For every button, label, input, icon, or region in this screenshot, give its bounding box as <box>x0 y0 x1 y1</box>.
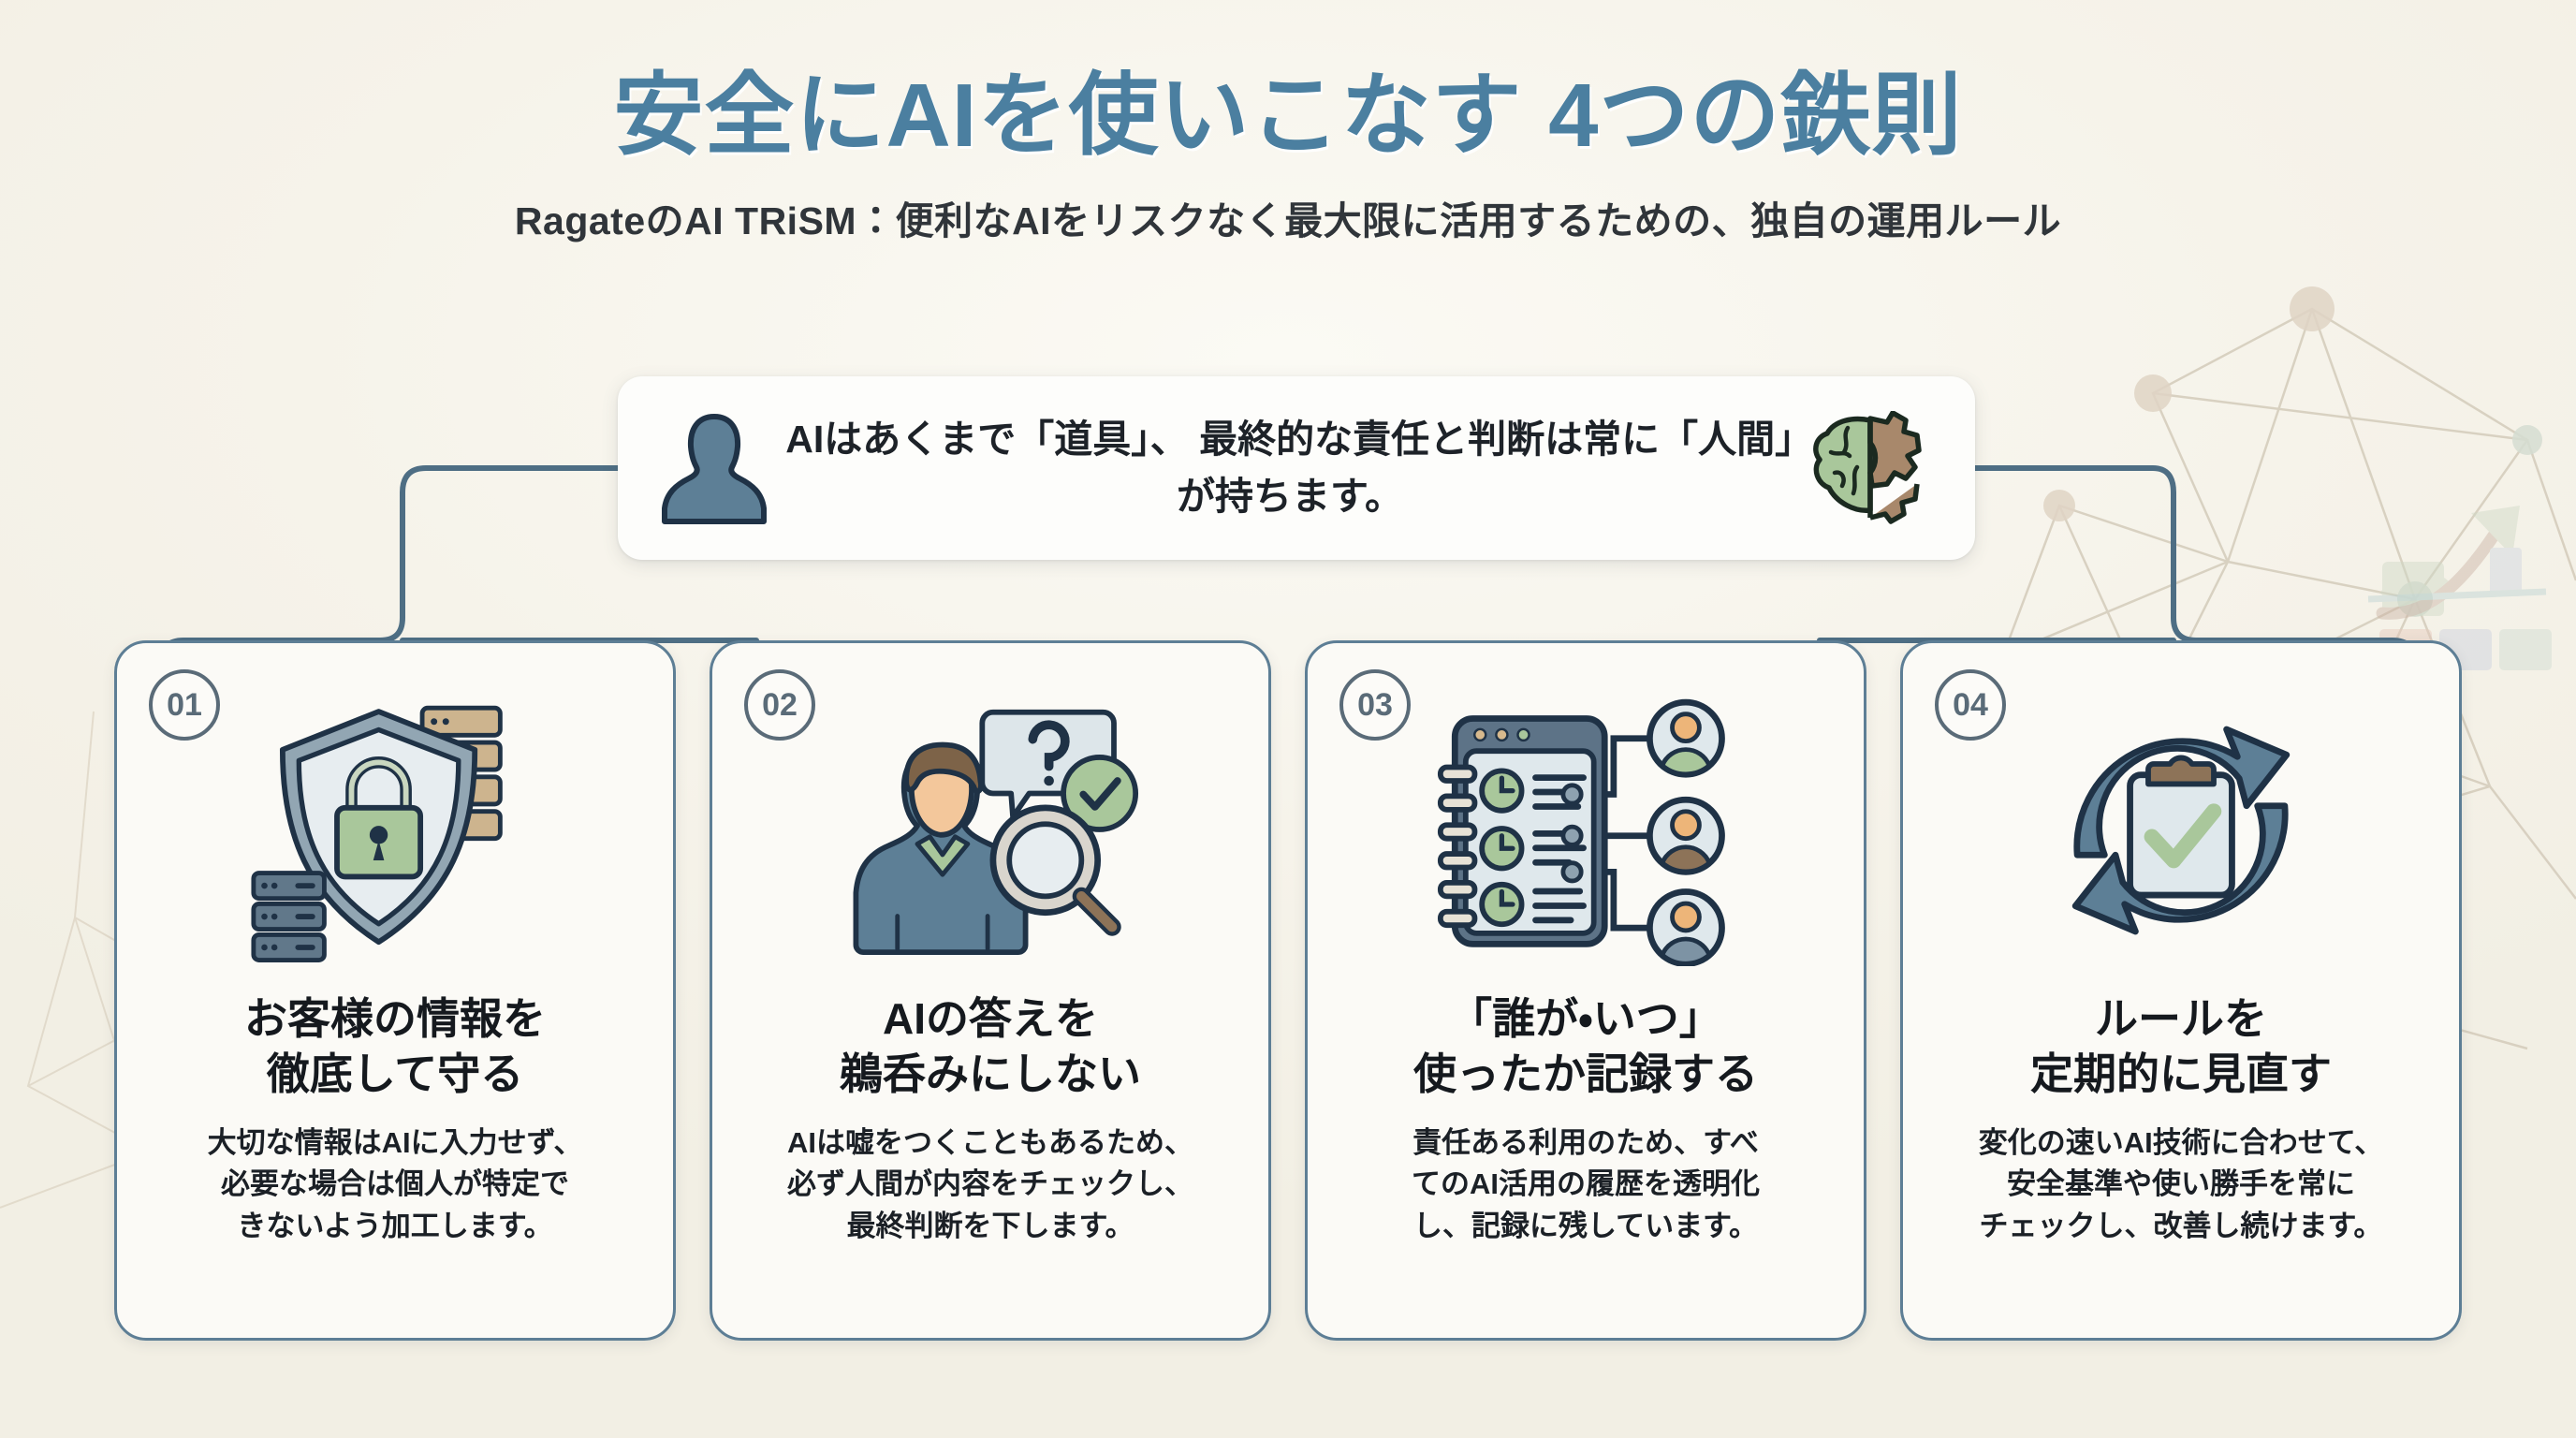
person-review-magnifier-icon <box>737 681 1244 980</box>
card-description: 大切な情報はAIに入力せず、 必要な場合は個人が特定で きないよう加工します。 <box>208 1123 583 1248</box>
rule-card-01[interactable]: 01 <box>114 640 676 1341</box>
review-cycle-clipboard-icon <box>1927 681 2435 980</box>
brain-gear-icon <box>1810 411 1934 525</box>
rule-card-04[interactable]: 04 ルールを 定期的に見直す 変化の速いAI技術に合わせて、 安全基準や使い勝… <box>1900 640 2462 1341</box>
rules-card-row: 01 <box>0 640 2576 1341</box>
card-description: 責任ある利用のため、すべ てのAI活用の履歴を透明化 し、記録に残しています。 <box>1412 1123 1760 1248</box>
page-header: 安全にAIを使いこなす 4つの鉄則 RagateのAI TRiSM：便利なAIを… <box>0 67 2576 245</box>
card-number-badge: 03 <box>1339 669 1411 741</box>
card-number-badge: 04 <box>1935 669 2006 741</box>
card-number-badge: 01 <box>149 669 220 741</box>
page-title: 安全にAIを使いこなす 4つの鉄則 <box>0 67 2576 165</box>
audit-log-users-icon <box>1332 681 1839 980</box>
shield-lock-servers-icon <box>141 681 649 980</box>
page-subtitle: RagateのAI TRiSM：便利なAIをリスクなく最大限に活用するための、独… <box>0 189 2576 245</box>
card-description: AIは嘘をつくこともあるため、 必ず人間が内容をチェックし、 最終判断を下します… <box>787 1123 1193 1248</box>
banner-text: AIはあくまで「道具」、 最終的な責任と判断は常に「人間」が持ちます。 <box>769 411 1810 526</box>
card-title: AIの答えを 鵜呑みにしない <box>840 991 1141 1102</box>
banner-callout: AIはあくまで「道具」、 最終的な責任と判断は常に「人間」が持ちます。 <box>618 376 1975 560</box>
card-title: ルールを 定期的に見直す <box>2030 991 2332 1102</box>
rule-card-02[interactable]: 02 <box>710 640 1271 1341</box>
card-description: 変化の速いAI技術に合わせて、 安全基準や使い勝手を常に チェックし、改善し続け… <box>1979 1123 2383 1248</box>
card-title: 「誰が・いつ」 使ったか記録する <box>1413 991 1758 1102</box>
person-silhouette-icon <box>659 407 769 529</box>
card-number-badge: 02 <box>744 669 815 741</box>
rule-card-03[interactable]: 03 <box>1305 640 1866 1341</box>
card-title: お客様の情報を 徹底して守る <box>244 991 546 1102</box>
